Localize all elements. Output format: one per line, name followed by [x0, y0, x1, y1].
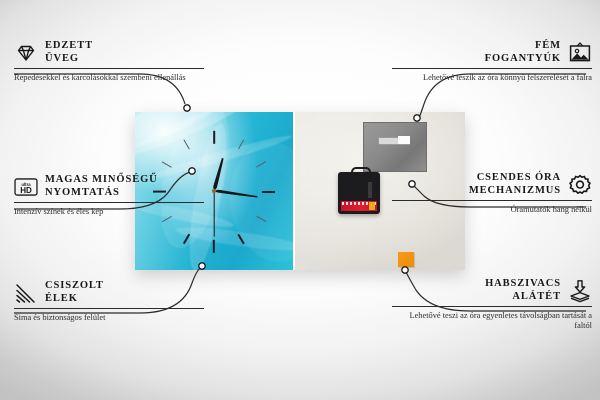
clock-center-cap: [212, 189, 216, 193]
feature-description: Lehetővé teszi az óra egyenletes távolsá…: [392, 311, 592, 332]
feature-titles: CSISZOLT ÉLEK: [45, 280, 104, 305]
feature-header: CSISZOLT ÉLEK: [14, 280, 204, 305]
clock-second-hand: [213, 191, 214, 237]
feature-title-line2: ALÁTÉT: [485, 291, 561, 304]
feature-header: FÉM FOGANTYÚK: [392, 40, 592, 65]
feature-description: Lehetővé teszik az óra könnyű felszerelé…: [392, 73, 592, 83]
feature-titles: HABSZIVACS ALÁTÉT: [485, 278, 561, 303]
feature-titles: MAGAS MINŐSÉGŰ NYOMTATÁS: [45, 174, 158, 199]
clock-mechanism: [338, 172, 380, 214]
mechanism-hook: [351, 167, 371, 177]
feature-title-line1: CSISZOLT: [45, 280, 104, 293]
feature-habszivacs-alatet: HABSZIVACS ALÁTÉT Lehetővé teszi az óra …: [392, 278, 592, 332]
feature-description: Repedésekkel és karcolásokkal szembeni e…: [14, 73, 204, 83]
feature-magas-minosegu-nyomtatas: ultra HD MAGAS MINŐSÉGŰ NYOMTATÁS Intenz…: [14, 174, 204, 217]
gear-icon: [568, 173, 592, 197]
feature-divider: [14, 68, 204, 69]
feature-header: EDZETT ÜVEG: [14, 40, 204, 65]
svg-text:HD: HD: [20, 186, 32, 195]
connector-dot-edzett-uveg: [184, 105, 190, 111]
clock-tick: [262, 191, 275, 193]
feature-title-line2: ÉLEK: [45, 293, 104, 306]
feature-titles: EDZETT ÜVEG: [45, 40, 93, 65]
feature-title-line2: MECHANIZMUS: [469, 185, 561, 198]
feature-title-line1: EDZETT: [45, 40, 93, 53]
foam-pad-icon: [568, 279, 592, 303]
feature-description: Óramutatók hang nélkül: [392, 205, 592, 215]
feature-divider: [392, 306, 592, 307]
feature-divider: [14, 202, 204, 203]
feature-description: Intenzív színek és éles kép: [14, 207, 204, 217]
infographic-canvas: EDZETT ÜVEG Repedésekkel és karcolásokka…: [0, 0, 600, 400]
feature-header: CSENDES ÓRA MECHANIZMUS: [392, 172, 592, 197]
hanger-slot-highlight: [398, 136, 410, 144]
feature-divider: [392, 68, 592, 69]
feature-title-line2: FOGANTYÚK: [485, 53, 561, 66]
feature-titles: FÉM FOGANTYÚK: [485, 40, 561, 65]
feature-header: ultra HD MAGAS MINŐSÉGŰ NYOMTATÁS: [14, 174, 204, 199]
feature-titles: CSENDES ÓRA MECHANIZMUS: [469, 172, 561, 197]
feature-divider: [392, 200, 592, 201]
clock-tick: [213, 240, 215, 253]
picture-frame-hanger-icon: [568, 41, 592, 65]
feature-title-line1: MAGAS MINŐSÉGŰ: [45, 174, 158, 187]
ultra-hd-icon: ultra HD: [14, 175, 38, 199]
metal-hanger: [363, 122, 427, 172]
feature-csendes-ora-mechanizmus: CSENDES ÓRA MECHANIZMUS Óramutatók hang …: [392, 172, 592, 215]
polished-edges-icon: [14, 281, 38, 305]
diamond-icon: [14, 41, 38, 65]
feature-description: Sima és biztonságos felület: [14, 313, 204, 323]
feature-title-line1: CSENDES ÓRA: [469, 172, 561, 185]
feature-fem-fogantyuk: FÉM FOGANTYÚK Lehetővé teszik az óra kön…: [392, 40, 592, 83]
feature-csiszolt-elek: CSISZOLT ÉLEK Sima és biztonságos felüle…: [14, 280, 204, 323]
feature-divider: [14, 308, 204, 309]
clock-tick: [213, 131, 215, 144]
feature-header: HABSZIVACS ALÁTÉT: [392, 278, 592, 303]
feature-title-line1: HABSZIVACS: [485, 278, 561, 291]
feature-edzett-uveg: EDZETT ÜVEG Repedésekkel és karcolásokka…: [14, 40, 204, 83]
mechanism-label: [341, 201, 377, 211]
feature-title-line1: FÉM: [485, 40, 561, 53]
mechanism-label-chip: [369, 202, 375, 210]
mechanism-shaft: [368, 182, 372, 198]
foam-pad: [398, 252, 414, 267]
feature-title-line2: ÜVEG: [45, 53, 93, 66]
feature-title-line2: NYOMTATÁS: [45, 187, 158, 200]
